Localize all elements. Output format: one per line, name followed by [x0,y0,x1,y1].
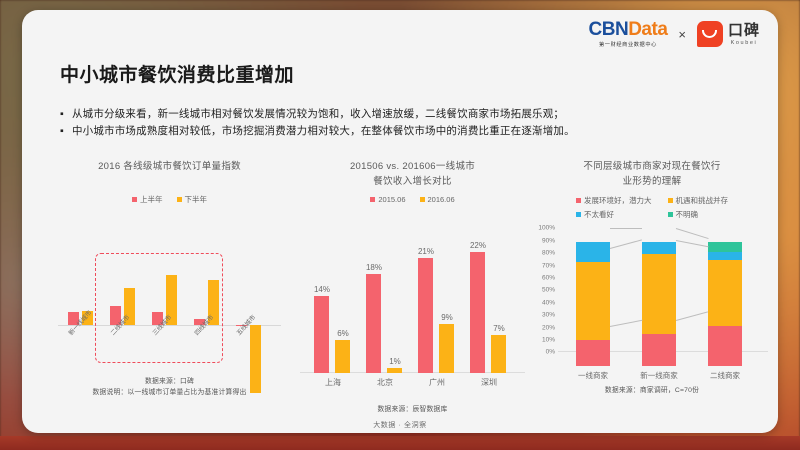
legend-swatch-icon [132,197,137,202]
bar-value-label: 6% [330,329,356,338]
stack-segment [708,242,742,252]
bar-group: 18%1%北京 [360,241,410,373]
bullet-list: ▪ 从城市分级来看，新一线城市相对餐饮发展情况较为饱和，收入增速放缓，二线餐饮商… [60,106,760,141]
koubei-logo: 口碑 Koubei [697,21,760,47]
chart-title: 不同层级城市商家对现在餐饮行 业形势的理解 [532,160,772,189]
legend-item: 不太看好 [576,209,652,220]
bar [491,335,506,374]
legend-label: 上半年 [140,194,163,205]
bullet-text: 中小城市市场成熟度相对较低，市场挖掘消费潜力相对较大，在整体餐饮市场中的消费比重… [72,123,575,140]
y-axis-tick-label: 70% [542,262,555,269]
bar [439,324,454,374]
legend-label: 下半年 [185,194,208,205]
legend-item: 2015.06 [370,195,405,204]
category-label: 新一线商家 [629,370,689,381]
koubei-smile-icon [697,21,723,47]
bar [366,274,381,373]
stack-segment [576,262,610,340]
koubei-wordmark-en: Koubei [731,40,758,46]
chart-title-line-1: 201506 vs. 201606一线城市 [300,160,525,175]
stack-segment [576,242,610,262]
cbndata-wordmark: CBNData [589,20,668,39]
chart-source: 数据来源：辰智数据库 [300,405,525,416]
category-label: 一线商家 [563,370,623,381]
stack-connector-line [610,228,642,229]
chart-legend: 2015.06 2016.06 [300,195,525,204]
stack-segment [642,334,676,366]
chart-title: 2016 各线级城市餐饮订单量指数 [52,160,287,188]
bar-group [64,217,106,377]
bar [250,325,261,393]
chart-market-sentiment: 不同层级城市商家对现在餐饮行 业形势的理解 发展环境好，潜力大 机遇和挑战并存 … [532,160,772,397]
bar [335,340,350,373]
y-axis-tick-label: 30% [542,312,555,319]
y-axis-tick-label: 60% [542,275,555,282]
chart-source: 数据来源：商家调研，C=70份 [532,386,772,397]
y-axis-tick-label: 20% [542,324,555,331]
bullet-marker-icon: ▪ [60,106,64,123]
legend-label: 不太看好 [584,209,614,220]
y-axis-tick-label: 10% [542,337,555,344]
cbndata-logo: CBNData 第一财经商业数据中心 [589,20,668,48]
brand-header: CBNData 第一财经商业数据中心 × 口碑 Koubei [589,20,760,48]
chart-legend: 发展环境好，潜力大 机遇和挑战并存 不太看好 不明确 [532,195,772,220]
legend-item: 发展环境好，潜力大 [576,195,652,206]
y-axis-tick-label: 100% [538,225,555,232]
background-bottom-band [0,436,800,450]
category-label: 二线商家 [695,370,755,381]
chart-legend: 上半年 下半年 [52,194,287,205]
bar-group [190,217,232,377]
bullet-marker-icon: ▪ [60,123,64,140]
legend-swatch-icon [668,212,673,217]
stacked-bar: 一线商家 [576,242,610,366]
y-axis-tick-label: 50% [542,287,555,294]
legend-swatch-icon [420,197,425,202]
bar-value-label: 9% [434,313,460,322]
y-axis-tick-label: 40% [542,299,555,306]
legend-label: 2016.06 [428,195,455,204]
bar [387,368,402,374]
legend-swatch-icon [370,197,375,202]
category-label: 深圳 [464,377,514,388]
koubei-wordmark-cn: 口碑 [728,23,760,38]
stack-segment [642,254,676,335]
legend-swatch-icon [668,198,673,203]
legend-label: 2015.06 [378,195,405,204]
stack-segment [708,260,742,326]
watermark-text: 大数据 · 全洞察 [22,420,778,430]
slide-panel: CBNData 第一财经商业数据中心 × 口碑 Koubei 中小城市餐饮消费比… [22,10,778,433]
bar-group: 21%9%广州 [412,241,462,373]
legend-swatch-icon [576,198,581,203]
bar [470,252,485,373]
y-axis-tick-label: 90% [542,237,555,244]
chart-revenue-growth: 201506 vs. 201606一线城市 餐饮收入增长对比 2015.06 2… [300,160,525,416]
legend-item: 下半年 [177,194,208,205]
y-axis-tick-label: 80% [542,250,555,257]
legend-item: 机遇和挑战并存 [668,195,729,206]
stacked-bar: 二线商家 [708,242,742,366]
chart-title-line-1: 不同层级城市商家对现在餐饮行 [532,160,772,175]
bar-value-label: 1% [382,357,408,366]
bullet-item: ▪ 中小城市市场成熟度相对较低，市场挖掘消费潜力相对较大，在整体餐饮市场中的消费… [60,123,760,140]
bar-group [148,217,190,377]
category-label: 广州 [412,377,462,388]
bar-value-label: 22% [465,241,491,250]
chart-title: 201506 vs. 201606一线城市 餐饮收入增长对比 [300,160,525,189]
stacked-bar: 新一线商家 [642,242,676,366]
brand-cross-label: × [677,27,687,42]
chart-plot-area: 新一线城市二线城市三线城市四线城市五线城市 [52,217,287,377]
bar-group [106,217,148,377]
chart-plot-area: 14%6%上海18%1%北京21%9%广州22%7%深圳 [300,214,525,389]
bar-group: 14%6%上海 [308,241,358,373]
legend-label: 发展环境好，潜力大 [584,195,652,206]
chart-title-line-2: 餐饮收入增长对比 [300,175,525,190]
chart-plot-area: 100%90%80%70%60%50%40%30%20%10%0% 一线商家新一… [532,228,772,366]
legend-item: 上半年 [132,194,163,205]
bar-value-label: 14% [309,285,335,294]
legend-item: 不明确 [668,209,729,220]
cbndata-subtitle: 第一财经商业数据中心 [599,41,657,48]
stack-segment [708,252,742,259]
legend-label: 不明确 [676,209,699,220]
category-label: 北京 [360,377,410,388]
y-axis-tick-label: 0% [546,349,555,356]
bar-value-label: 18% [361,263,387,272]
bar-value-label: 21% [413,247,439,256]
stack-segment [576,340,610,366]
legend-item: 2016.06 [420,195,455,204]
cbndata-cbn-text: CBN [589,19,629,40]
cbndata-data-text: Data [628,19,667,40]
category-label: 上海 [308,377,358,388]
chart-order-index: 2016 各线级城市餐饮订单量指数 上半年 下半年 新一线城市二线城市三线城市四… [52,160,287,399]
bar [314,296,329,373]
stack-segment [708,326,742,367]
bullet-text: 从城市分级来看，新一线城市相对餐饮发展情况较为饱和，收入增速放缓，二线餐饮商家市… [72,106,564,123]
bar-group: 22%7%深圳 [464,241,514,373]
legend-label: 机遇和挑战并存 [676,195,729,206]
stack-segment [642,242,676,253]
chart-title-line-2: 业形势的理解 [532,175,772,190]
bar-value-label: 7% [486,324,512,333]
legend-swatch-icon [177,197,182,202]
bar [418,258,433,374]
page-title: 中小城市餐饮消费比重增加 [60,60,294,87]
legend-swatch-icon [576,212,581,217]
bar-group [232,217,274,377]
bullet-item: ▪ 从城市分级来看，新一线城市相对餐饮发展情况较为饱和，收入增速放缓，二线餐饮商… [60,106,760,123]
